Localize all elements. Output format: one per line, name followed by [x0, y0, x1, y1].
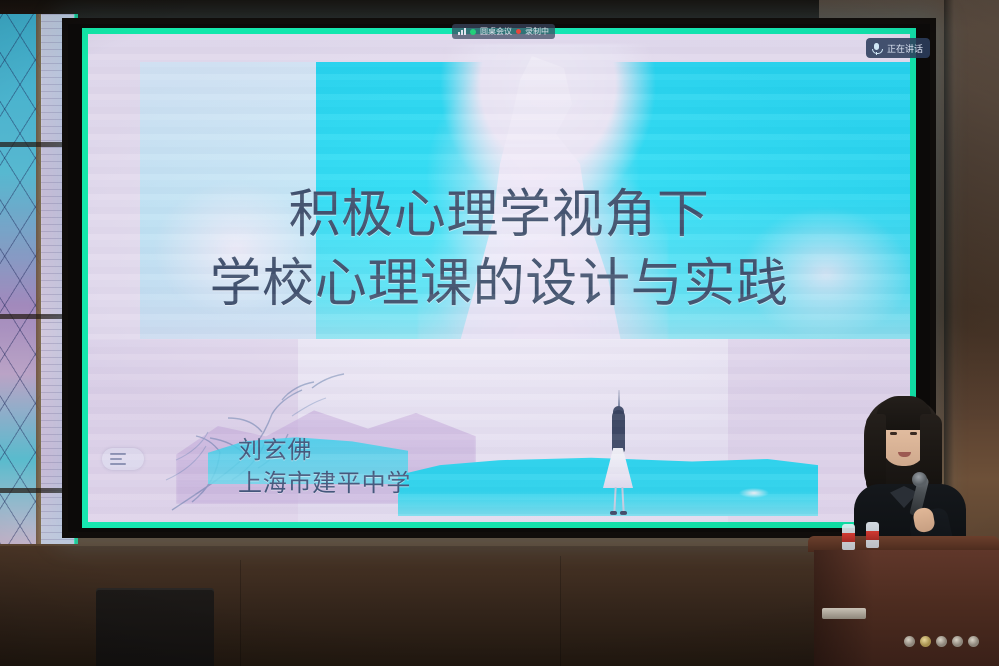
slide-title: 积极心理学视角下 学校心理课的设计与实践 — [88, 184, 910, 317]
speaking-indicator-badge[interactable]: 正在讲话 — [866, 38, 930, 58]
speaker-cabinet — [96, 588, 214, 666]
presenter-affiliation: 上海市建平中学 — [238, 467, 411, 500]
figure-hair — [612, 410, 625, 454]
signal-bars-icon — [458, 28, 466, 35]
presenter-hair-left — [866, 414, 886, 492]
green-status-dot-icon — [470, 29, 476, 35]
podium-button[interactable] — [968, 636, 979, 647]
list-line — [110, 458, 122, 460]
water-highlight — [733, 486, 775, 500]
podium-button[interactable] — [904, 636, 915, 647]
list-lines-icon[interactable] — [102, 448, 144, 470]
podium-control-buttons[interactable] — [904, 636, 979, 647]
meeting-label: 圆桌会议 — [480, 26, 512, 37]
podium-button[interactable] — [920, 636, 931, 647]
slide-title-line-2: 学校心理课的设计与实践 — [88, 253, 910, 316]
wall-seam — [560, 556, 561, 666]
podium-button[interactable] — [936, 636, 947, 647]
list-line — [110, 463, 126, 465]
presenter-eye — [890, 432, 897, 435]
podium-nameplate — [822, 608, 866, 619]
presenter-eye — [910, 432, 917, 435]
recording-label: 录制中 — [525, 26, 549, 37]
girl-figure-illustration — [588, 404, 648, 519]
figure-foot — [620, 511, 627, 515]
figure-leg — [621, 487, 624, 513]
window-lattice — [0, 14, 40, 544]
wall-seam — [240, 560, 241, 666]
presentation-slide: 积极心理学视角下 学校心理课的设计与实践 刘玄佛 上海市建平中学 — [88, 34, 910, 522]
figure-leg — [613, 487, 616, 513]
slide-byline: 刘玄佛 上海市建平中学 — [238, 434, 411, 500]
red-recording-dot-icon — [516, 29, 521, 34]
screenshot-root: 积极心理学视角下 学校心理课的设计与实践 刘玄佛 上海市建平中学 圆桌会议 录制… — [0, 0, 999, 666]
speaking-label: 正在讲话 — [887, 42, 923, 55]
list-line — [110, 453, 126, 455]
podium-button[interactable] — [952, 636, 963, 647]
podium — [808, 536, 999, 666]
presenter-name: 刘玄佛 — [238, 434, 411, 467]
water-bottle — [842, 524, 855, 550]
microphone-icon — [871, 42, 882, 55]
figure-foot — [610, 511, 617, 515]
projection-screen: 积极心理学视角下 学校心理课的设计与实践 刘玄佛 上海市建平中学 — [62, 18, 936, 538]
meeting-status-bar[interactable]: 圆桌会议 录制中 — [452, 24, 555, 39]
slide-title-line-1: 积极心理学视角下 — [88, 184, 910, 247]
water-bottle — [866, 522, 879, 548]
figure-dress — [603, 448, 633, 488]
